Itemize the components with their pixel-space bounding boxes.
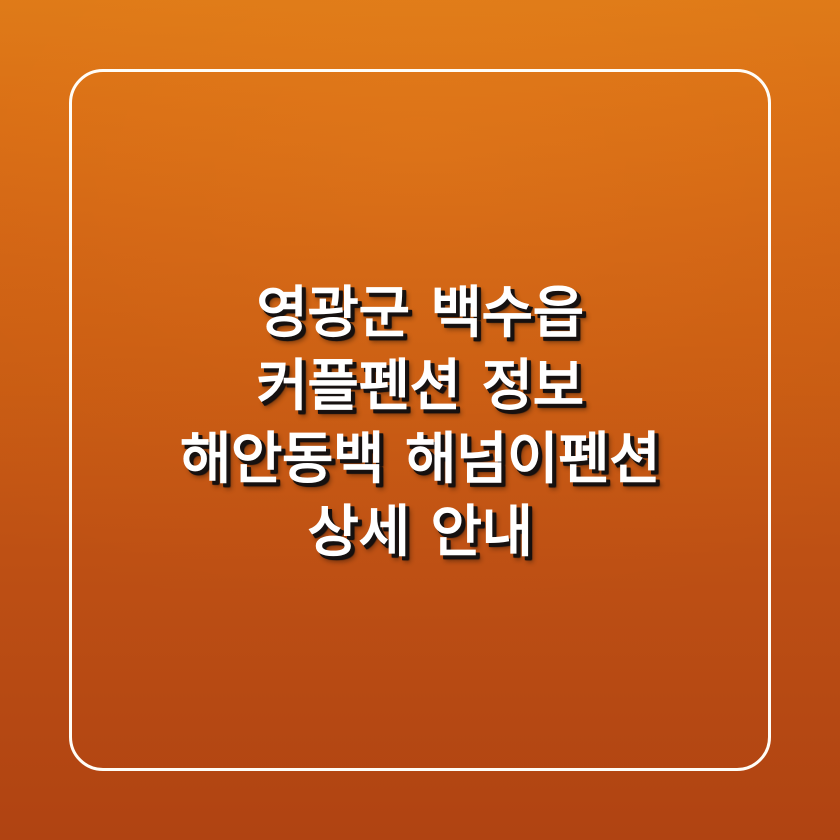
promo-card: 영광군 백수읍 커플펜션 정보 해안동백 해넘이펜션 상세 안내 [0,0,840,840]
headline-line-3: 해안동백 해넘이펜션 [0,422,840,495]
headline-text-block: 영광군 백수읍 커플펜션 정보 해안동백 해넘이펜션 상세 안내 [0,276,840,568]
headline-line-1: 영광군 백수읍 [0,276,840,349]
headline-line-4: 상세 안내 [0,495,840,568]
headline-line-2: 커플펜션 정보 [0,349,840,422]
